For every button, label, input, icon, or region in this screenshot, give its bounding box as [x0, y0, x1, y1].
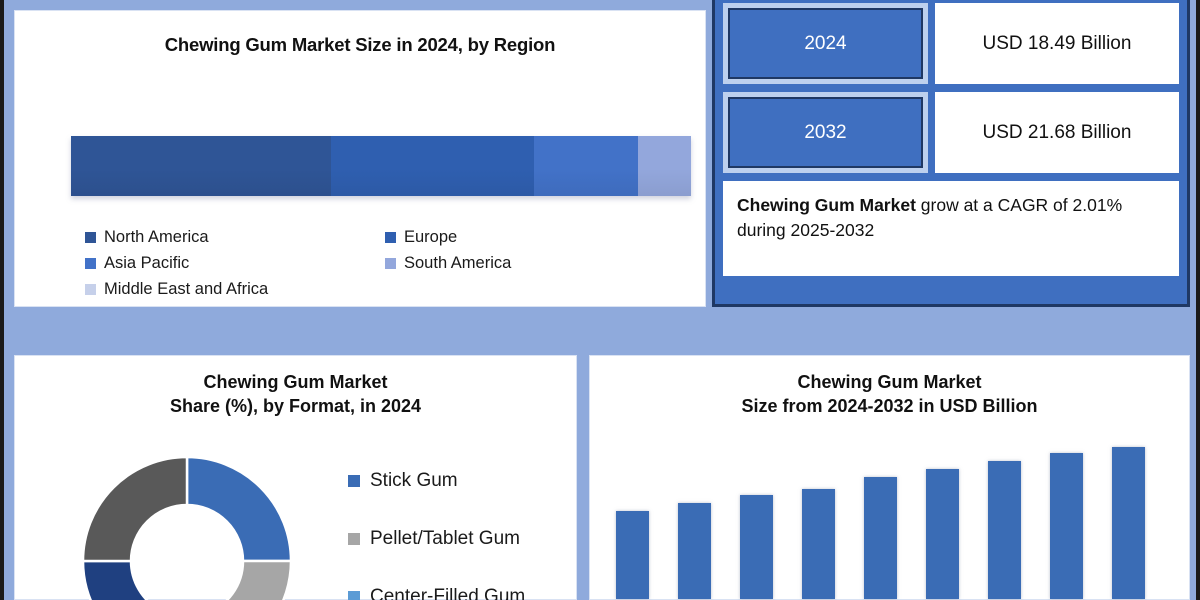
forecast-panel-title: Chewing Gum Market Size from 2024-2032 i… [590, 370, 1189, 419]
region-market-size-panel: Chewing Gum Market Size in 2024, by Regi… [14, 10, 706, 307]
value-label: USD 21.68 Billion [935, 92, 1179, 173]
donut-slice [83, 457, 187, 561]
format-donut-chart [77, 451, 297, 600]
legend-swatch-icon [348, 475, 360, 487]
forecast-bar [802, 489, 835, 599]
donut-slice [83, 561, 160, 600]
format-legend-item: Stick Gum [348, 452, 525, 510]
forecast-bar [678, 503, 711, 599]
forecast-size-panel: Chewing Gum Market Size from 2024-2032 i… [589, 355, 1190, 600]
year-box: 2024 [723, 3, 928, 84]
legend-swatch-icon [85, 232, 96, 243]
region-legend-item: Middle East and Africa [85, 276, 685, 302]
stat-row: 2024 USD 18.49 Billion [723, 3, 1179, 84]
forecast-bar-chart [616, 449, 1176, 599]
legend-swatch-icon [85, 258, 96, 269]
stack-segment [638, 136, 691, 196]
format-panel-title: Chewing Gum Market Share (%), by Format,… [15, 370, 576, 419]
format-legend: Stick GumPellet/Tablet GumCenter-Filled … [348, 452, 525, 600]
forecast-bar [864, 477, 897, 599]
forecast-bar [740, 495, 773, 599]
stat-row: 2032 USD 21.68 Billion [723, 92, 1179, 173]
cagr-market-name: Chewing Gum Market [737, 195, 916, 215]
donut-slice [204, 561, 291, 600]
format-legend-label: Stick Gum [370, 470, 458, 492]
value-label: USD 18.49 Billion [935, 3, 1179, 84]
format-title-line1: Chewing Gum Market [15, 370, 576, 394]
format-share-panel: Chewing Gum Market Share (%), by Format,… [14, 355, 577, 600]
forecast-title-line2: Size from 2024-2032 in USD Billion [590, 394, 1189, 418]
format-title-line2: Share (%), by Format, in 2024 [15, 394, 576, 418]
forecast-bar [1112, 447, 1145, 599]
legend-swatch-icon [348, 591, 360, 600]
format-legend-label: Pellet/Tablet Gum [370, 528, 520, 550]
forecast-title-line1: Chewing Gum Market [590, 370, 1189, 394]
forecast-bar [1050, 453, 1083, 599]
legend-swatch-icon [385, 258, 396, 269]
year-label: 2024 [728, 8, 923, 79]
region-legend: North AmericaEuropeAsia PacificSouth Ame… [85, 224, 685, 302]
legend-swatch-icon [85, 284, 96, 295]
region-panel-title: Chewing Gum Market Size in 2024, by Regi… [15, 34, 705, 56]
region-legend-item: Europe [385, 224, 685, 250]
forecast-bar [988, 461, 1021, 599]
region-legend-item: Asia Pacific [85, 250, 385, 276]
region-legend-label: North America [104, 228, 209, 247]
year-label: 2032 [728, 97, 923, 168]
year-box: 2032 [723, 92, 928, 173]
legend-swatch-icon [348, 533, 360, 545]
region-legend-label: Asia Pacific [104, 254, 189, 273]
donut-slice [187, 457, 291, 561]
page-border-left [0, 0, 4, 600]
stack-segment [331, 136, 534, 196]
region-legend-label: Middle East and Africa [104, 280, 268, 299]
forecast-bar [926, 469, 959, 599]
market-stats-panel: 2024 USD 18.49 Billion 2032 USD 21.68 Bi… [712, 0, 1190, 307]
region-stacked-bar-chart [71, 136, 691, 196]
forecast-bar [616, 511, 649, 599]
region-legend-label: South America [404, 254, 511, 273]
format-legend-item: Center-Filled Gum [348, 568, 525, 600]
region-legend-item: South America [385, 250, 685, 276]
format-legend-label: Center-Filled Gum [370, 586, 525, 600]
format-legend-item: Pellet/Tablet Gum [348, 510, 525, 568]
donut-svg [77, 451, 297, 600]
stack-segment [71, 136, 331, 196]
stack-segment [534, 136, 638, 196]
region-legend-item: North America [85, 224, 385, 250]
page-border-right [1196, 0, 1200, 600]
stacked-bar [71, 136, 691, 196]
cagr-statement: Chewing Gum Market grow at a CAGR of 2.0… [723, 181, 1179, 276]
region-legend-label: Europe [404, 228, 457, 247]
legend-swatch-icon [385, 232, 396, 243]
